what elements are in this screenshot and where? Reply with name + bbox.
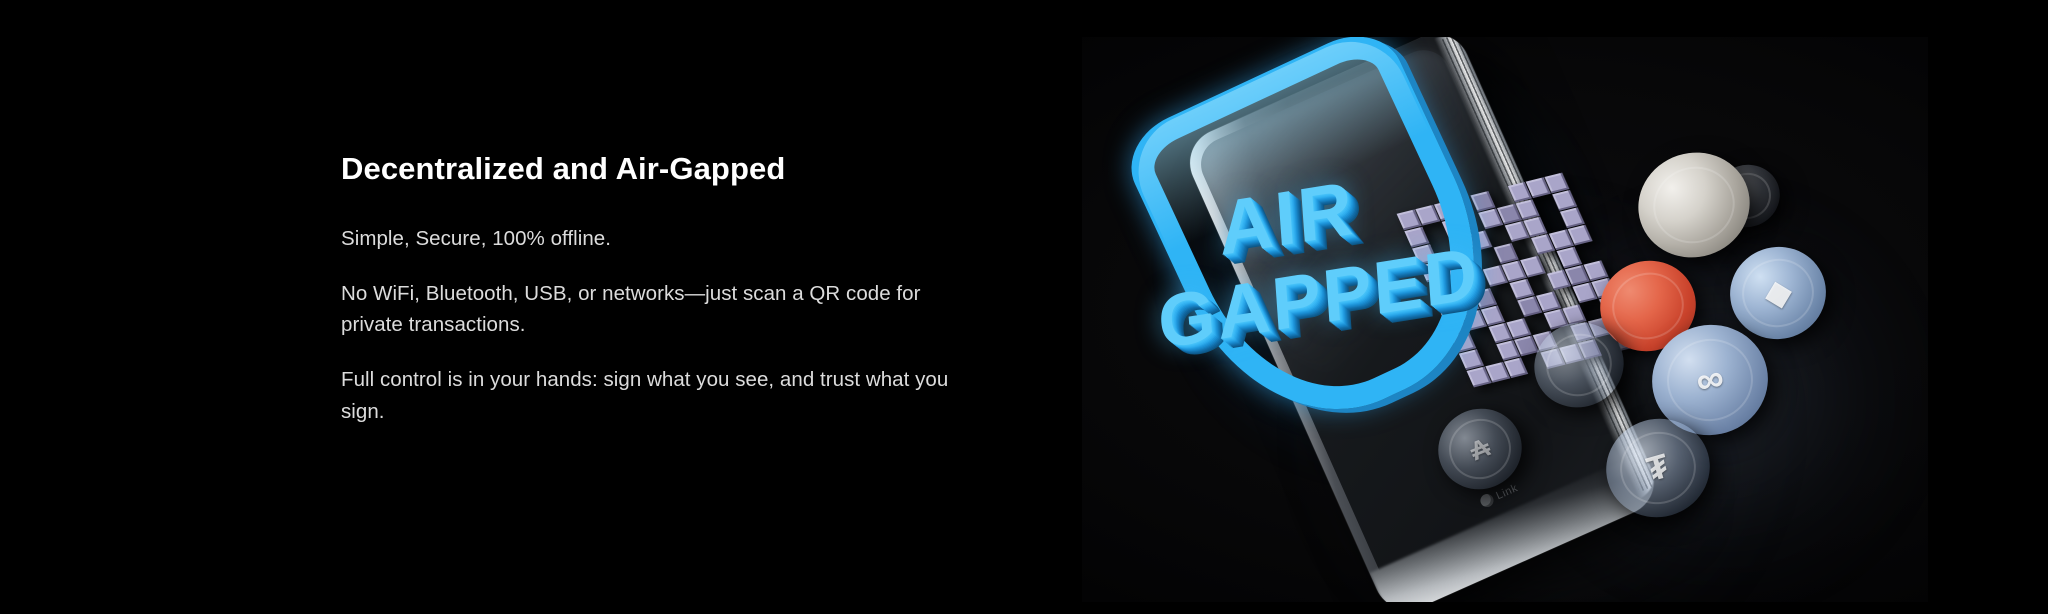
feature-paragraph-2: No WiFi, Bluetooth, USB, or networks—jus… — [341, 278, 966, 342]
coin-ethereum-glyph: ◆ — [1761, 273, 1795, 312]
feature-paragraph-3: Full control is in your hands: sign what… — [341, 364, 966, 428]
coin-infinity-glyph: ∞ — [1693, 359, 1727, 402]
coin-dollar-glyph: ₮ — [1643, 449, 1672, 487]
coin-ghost-b-glyph: ₳ — [1466, 433, 1493, 464]
coin-silver-icon — [1625, 138, 1764, 272]
feature-paragraph-1: Simple, Secure, 100% offline. — [341, 223, 966, 255]
render-scene: Link AI — [1082, 37, 1928, 602]
feature-section: Decentralized and Air-Gapped Simple, Sec… — [0, 0, 2048, 614]
copy-column: Decentralized and Air-Gapped Simple, Sec… — [341, 150, 981, 428]
product-visual: Link AI — [1082, 37, 1928, 602]
page-title: Decentralized and Air-Gapped — [341, 150, 981, 189]
